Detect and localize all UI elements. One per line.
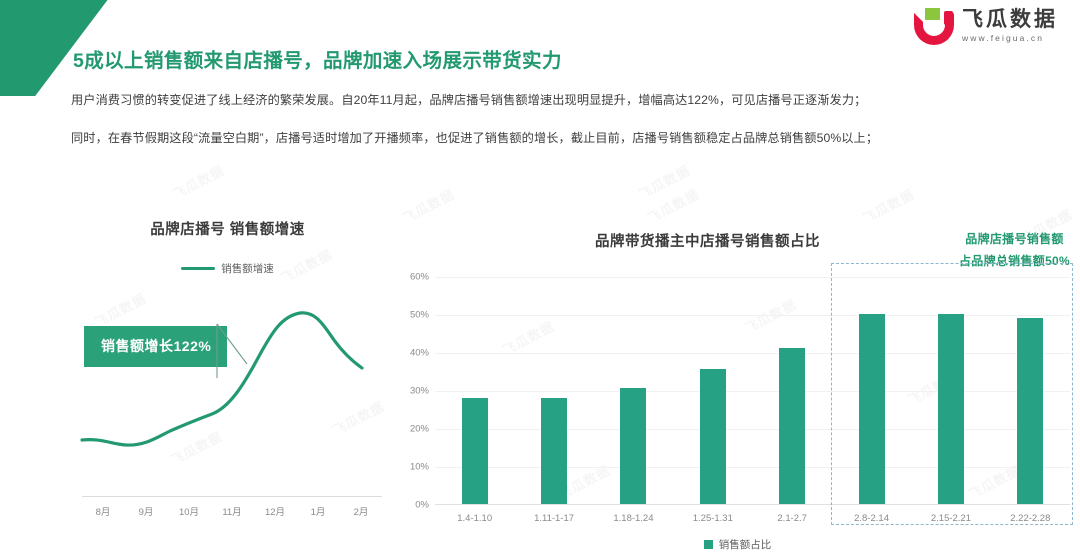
x-tick-label: 1.4-1.10 xyxy=(435,513,514,524)
bar[interactable] xyxy=(1017,318,1043,504)
watermark: 飞瓜数据 xyxy=(635,160,693,203)
x-tick-label: 9月 xyxy=(125,504,167,518)
x-tick-label: 1.25-1.31 xyxy=(673,513,752,524)
x-tick-label: 2.22-2.28 xyxy=(991,513,1070,524)
watermark: 飞瓜数据 xyxy=(859,184,917,227)
bar[interactable] xyxy=(779,348,805,504)
bar-slot[interactable] xyxy=(594,277,673,504)
logo-website-url: www.feigua.cn xyxy=(962,33,1044,43)
page-title: 5成以上销售额来自店播号，品牌加速入场展示带货实力 xyxy=(73,44,562,73)
bar[interactable] xyxy=(859,314,885,504)
bar-slot[interactable] xyxy=(514,277,593,504)
x-tick-label: 10月 xyxy=(168,504,210,518)
y-tick-label: 30% xyxy=(410,386,429,397)
x-tick-label: 1.11-1-17 xyxy=(514,513,593,524)
measure-bracket-icon xyxy=(215,322,255,380)
x-tick-label: 2.8-2.14 xyxy=(832,513,911,524)
x-tick-label: 11月 xyxy=(211,504,253,518)
watermark: 飞瓜数据 xyxy=(169,160,227,203)
x-tick-label: 1月 xyxy=(297,504,339,518)
bar-slot[interactable] xyxy=(435,277,514,504)
line-chart-x-tick-labels: 8月 9月 10月 11月 12月 1月 2月 xyxy=(82,504,382,518)
bar-slot[interactable] xyxy=(673,277,752,504)
bar[interactable] xyxy=(620,388,646,504)
watermark: 飞瓜数据 xyxy=(644,184,702,227)
bar[interactable] xyxy=(700,369,726,504)
bar[interactable] xyxy=(462,398,488,504)
chart-title-left: 品牌店播号 销售额增速 xyxy=(60,218,395,239)
bar-slot[interactable] xyxy=(832,277,911,504)
bar-slot[interactable] xyxy=(991,277,1070,504)
chart-title-right: 品牌带货播主中店播号销售额占比 xyxy=(595,230,820,251)
highlight-annotation-line-1: 品牌店播号销售额 xyxy=(959,228,1070,250)
body-paragraph-1: 用户消费习惯的转变促进了线上经济的繁荣发展。自20年11月起，品牌店播号销售额增… xyxy=(71,90,866,108)
bar[interactable] xyxy=(938,314,964,504)
legend-line-icon xyxy=(181,267,215,270)
watermark: 飞瓜数据 xyxy=(399,184,457,227)
bar[interactable] xyxy=(541,398,567,504)
bar-slot[interactable] xyxy=(911,277,990,504)
y-tick-label: 60% xyxy=(410,272,429,283)
bar-chart-plot-area xyxy=(435,277,1070,505)
highlight-annotation-line-2: 占品牌总销售额50% xyxy=(959,250,1070,272)
x-tick-label: 2.1-2.7 xyxy=(753,513,832,524)
highlight-annotation: 品牌店播号销售额 占品牌总销售额50% xyxy=(959,228,1070,272)
feigua-logo-icon xyxy=(914,6,954,46)
bar-chart-y-tick-labels: 0% 10% 20% 30% 40% 50% 60% xyxy=(395,277,429,505)
y-tick-label: 50% xyxy=(410,310,429,321)
growth-line-svg xyxy=(60,288,395,478)
logo-brand-name: 飞瓜数据 xyxy=(962,9,1058,31)
x-tick-label: 2.15-2.21 xyxy=(911,513,990,524)
line-chart-x-axis xyxy=(82,496,382,497)
x-tick-label: 8月 xyxy=(82,504,124,518)
y-tick-label: 40% xyxy=(410,348,429,359)
x-tick-label: 12月 xyxy=(254,504,296,518)
bar-chart-x-tick-labels: 1.4-1.10 1.11-1-17 1.18-1.24 1.25-1.31 2… xyxy=(435,513,1070,524)
slide-canvas: 飞瓜数据 www.feigua.cn 5成以上销售额来自店播号，品牌加速入场展示… xyxy=(0,0,1080,560)
y-tick-label: 20% xyxy=(410,424,429,435)
line-chart-growth-rate: 品牌店播号 销售额增速 销售额增速 销售额增长122% 8月 9月 10月 11… xyxy=(60,218,395,538)
x-tick-label: 2月 xyxy=(340,504,382,518)
y-tick-label: 10% xyxy=(410,462,429,473)
bar-chart-x-axis xyxy=(435,504,1070,505)
bar-group xyxy=(435,277,1070,504)
body-paragraph-2: 同时，在春节假期这段“流量空白期”，店播号适时增加了开播频率，也促进了销售额的增… xyxy=(71,128,878,146)
legend-label-sales-share: 销售额占比 xyxy=(719,537,772,552)
chart-legend-left[interactable]: 销售额增速 xyxy=(60,261,395,276)
bar-slot[interactable] xyxy=(753,277,832,504)
x-tick-label: 1.18-1.24 xyxy=(594,513,673,524)
brand-logo: 飞瓜数据 www.feigua.cn xyxy=(914,6,1058,46)
growth-annotation-badge: 销售额增长122% xyxy=(84,326,227,367)
legend-square-icon xyxy=(704,540,713,549)
chart-legend-right[interactable]: 销售额占比 xyxy=(395,537,1080,552)
legend-label-growth-rate: 销售额增速 xyxy=(221,261,274,276)
y-tick-label: 0% xyxy=(415,500,429,511)
bar-chart-store-share: 品牌带货播主中店播号销售额占比 品牌店播号销售额 占品牌总销售额50% 0% 1… xyxy=(395,225,1080,560)
